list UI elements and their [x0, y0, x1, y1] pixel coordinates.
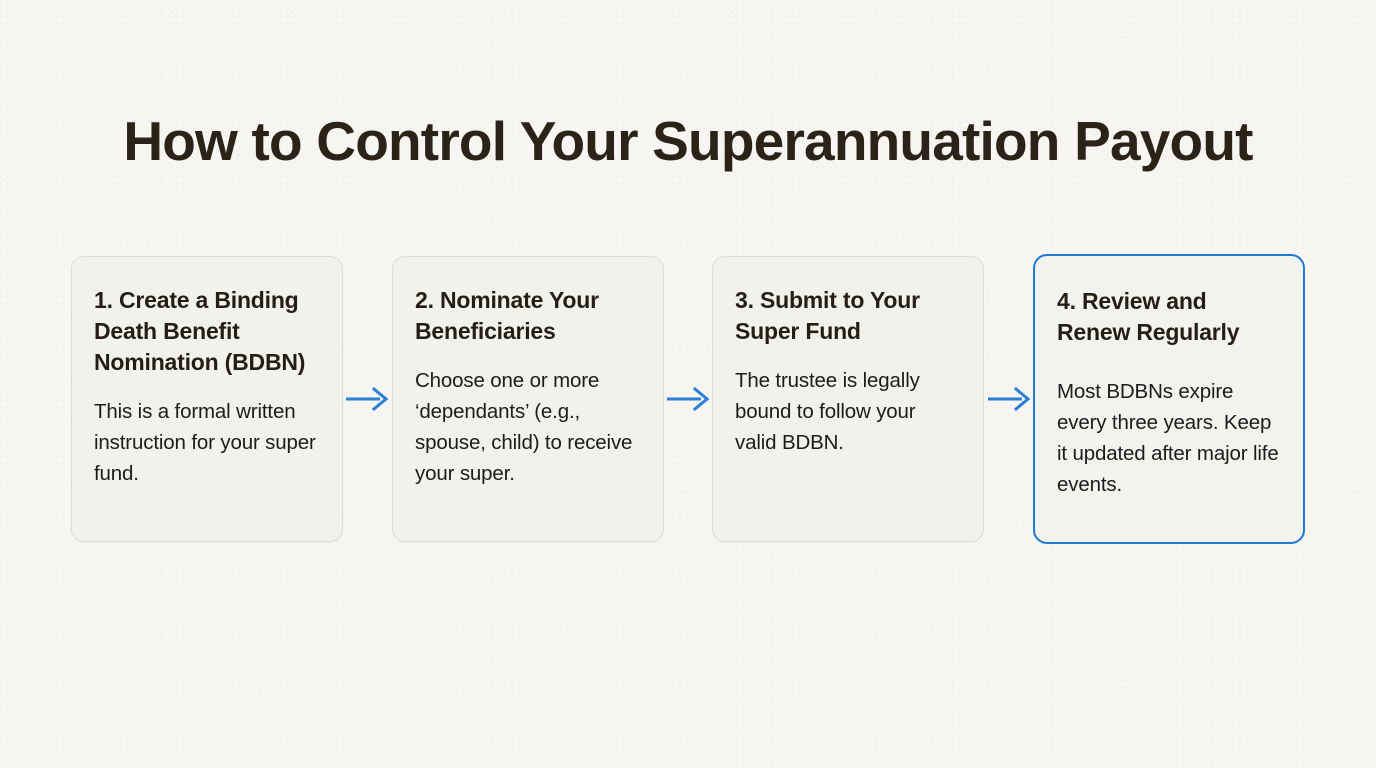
step-card-3-body: The trustee is legally bound to follow y… — [735, 365, 961, 458]
step-card-2[interactable]: 2. Nominate Your Beneficiaries Choose on… — [392, 256, 664, 542]
step-card-3[interactable]: 3. Submit to Your Super Fund The trustee… — [712, 256, 984, 542]
step-card-4-body: Most BDBNs expire every three years. Kee… — [1057, 376, 1281, 500]
page-title: How to Control Your Superannuation Payou… — [0, 109, 1376, 173]
slide-canvas: How to Control Your Superannuation Payou… — [0, 0, 1376, 768]
step-card-1-heading: 1. Create a Binding Death Benefit Nomina… — [94, 285, 320, 378]
step-card-4[interactable]: 4. Review and Renew Regularly Most BDBNs… — [1033, 254, 1305, 544]
step-card-2-heading: 2. Nominate Your Beneficiaries — [415, 285, 641, 347]
step-card-3-heading: 3. Submit to Your Super Fund — [735, 285, 961, 347]
arrow-right-icon-1 — [346, 386, 390, 412]
step-card-1[interactable]: 1. Create a Binding Death Benefit Nomina… — [71, 256, 343, 542]
step-card-1-body: This is a formal written instruction for… — [94, 396, 320, 489]
process-flow: 1. Create a Binding Death Benefit Nomina… — [71, 254, 1306, 546]
step-card-4-heading: 4. Review and Renew Regularly — [1057, 286, 1281, 348]
arrow-right-icon-2 — [667, 386, 711, 412]
arrow-right-icon-3 — [988, 386, 1032, 412]
step-card-2-body: Choose one or more ‘dependants’ (e.g., s… — [415, 365, 641, 489]
